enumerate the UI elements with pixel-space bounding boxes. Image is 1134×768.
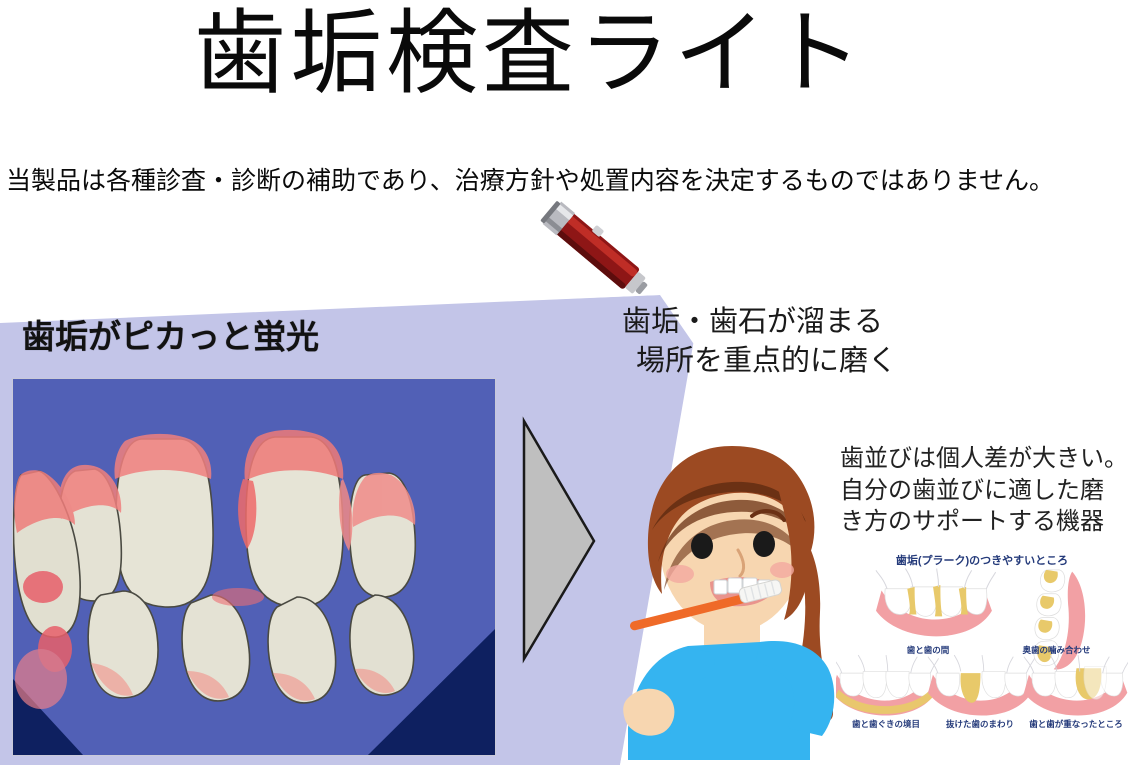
right-body-line1: 歯並びは個人差が大きい。	[840, 443, 1128, 475]
slide-canvas: 歯垢検査ライト 当製品は各種診査・診断の補助であり、治療方針や処置内容を決定する…	[0, 0, 1134, 768]
right-heading: 歯垢・歯石が溜まる 場所を重点的に磨く	[622, 303, 897, 380]
diagram-graphic	[836, 552, 1128, 734]
diagram-title: 歯垢(プラーク)のつきやすいところ	[836, 552, 1128, 568]
diagram-label-4: 歯と歯が重なったところ	[1020, 718, 1132, 730]
right-body-line2: 自分の歯並びに適した磨	[840, 475, 1128, 507]
left-caption: 歯垢がピカっと蛍光	[22, 310, 319, 358]
fluorescent-plaque-photo	[13, 379, 495, 755]
diagram-label-3: 抜けた歯のまわり	[930, 718, 1030, 730]
diagram-label-0: 歯と歯の間	[858, 644, 998, 656]
page-subtitle: 当製品は各種診査・診断の補助であり、治療方針や処置内容を決定するものではありませ…	[6, 166, 1054, 196]
woman-brushing-teeth-illustration	[592, 398, 857, 760]
penlight-device-icon	[530, 198, 670, 313]
diagram-label-1: 奥歯の噛み合わせ	[984, 644, 1129, 656]
plaque-photo-graphic	[13, 379, 495, 755]
right-heading-line2: 場所を重点的に磨く	[622, 342, 897, 381]
right-heading-line1: 歯垢・歯石が溜まる	[622, 306, 883, 338]
diagram-label-2: 歯と歯ぐきの境目	[834, 718, 938, 730]
page-title: 歯垢検査ライト	[0, 6, 1060, 103]
plaque-locations-diagram: 歯垢(プラーク)のつきやすいところ	[836, 552, 1128, 734]
right-body-line3: き方のサポートする機器	[840, 506, 1128, 538]
right-body-text: 歯並びは個人差が大きい。 自分の歯並びに適した磨 き方のサポートする機器	[840, 443, 1128, 538]
right-arrow-icon	[520, 415, 600, 665]
